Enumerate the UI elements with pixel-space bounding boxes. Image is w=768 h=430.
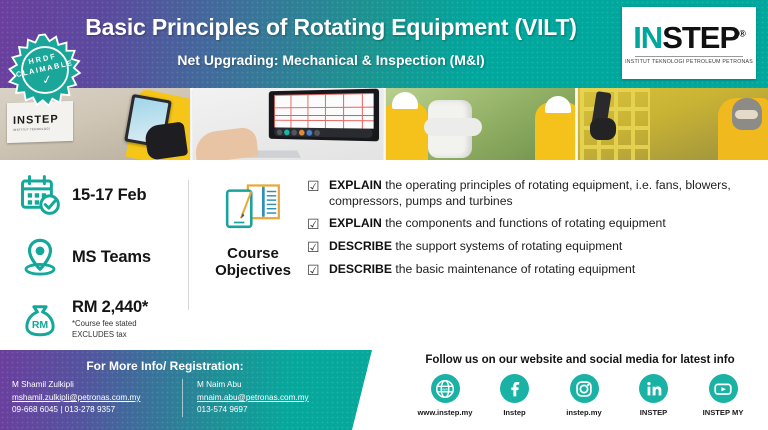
svg-text:www: www <box>441 387 450 391</box>
instep-logo-tagline: INSTITUT TEKNOLOGI PETROLEUM PETRONAS <box>625 59 753 65</box>
objective-text: DESCRIBE the basic maintenance of rotati… <box>329 262 635 278</box>
photo-laptop-schematic <box>193 88 383 160</box>
info-text-date: 15-17 Feb <box>66 186 146 205</box>
objective-lead: DESCRIBE <box>329 262 392 276</box>
registered-mark-icon: ® <box>739 28 745 38</box>
page-subtitle: Net Upgrading: Mechanical & Inspection (… <box>48 52 614 68</box>
globe-www-icon[interactable]: www <box>431 374 460 403</box>
objective-text: EXPLAIN the components and functions of … <box>329 216 666 232</box>
contact-email[interactable]: mshamil.zulkipli@petronas.com.my <box>12 392 182 405</box>
header-banner: Basic Principles of Rotating Equipment (… <box>0 0 768 88</box>
worker-body <box>386 102 428 160</box>
objective-item: ☑ EXPLAIN the components and functions o… <box>307 216 757 232</box>
course-venue: MS Teams <box>72 248 151 267</box>
objective-rest: the support systems of rotating equipmen… <box>392 239 622 253</box>
objective-item: ☑ EXPLAIN the operating principles of ro… <box>307 178 757 209</box>
calendar-check-icon <box>14 174 66 216</box>
info-row-date: 15-17 Feb <box>14 170 184 220</box>
course-fee: RM 2,440* <box>72 298 148 317</box>
objectives-list: ☑ EXPLAIN the operating principles of ro… <box>301 174 757 286</box>
contact-phone: 09-668 6045 | 013-278 9357 <box>12 404 182 417</box>
instep-logo-in: IN <box>633 20 662 55</box>
participant-tile <box>306 129 312 135</box>
contact-columns: M Shamil Zulkipli mshamil.zulkipli@petro… <box>12 379 360 417</box>
objective-text: EXPLAIN the operating principles of rota… <box>329 178 757 209</box>
laptop-screen <box>268 89 378 142</box>
social-link-instagram[interactable]: instep.my <box>553 374 615 417</box>
info-row-venue: MS Teams <box>14 232 184 282</box>
social-link-youtube[interactable]: INSTEP MY <box>692 374 754 417</box>
social-label: instep.my <box>566 408 601 417</box>
objective-item: ☑ DESCRIBE the support systems of rotati… <box>307 239 757 255</box>
hrdf-badge-text: HRDF CLAIMABLE ✓ <box>1 26 89 114</box>
footer: For More Info/ Registration: M Shamil Zu… <box>0 350 768 430</box>
youtube-icon[interactable] <box>709 374 738 403</box>
checkbox-icon: ☑ <box>307 178 329 194</box>
course-flyer: Basic Principles of Rotating Equipment (… <box>0 0 768 430</box>
checkbox-icon: ☑ <box>307 216 329 232</box>
glove <box>590 118 616 140</box>
course-info-list: 15-17 Feb MS Teams <box>14 170 184 356</box>
svg-text:RM: RM <box>32 319 49 331</box>
social-link-linkedin[interactable]: INSTEP <box>623 374 685 417</box>
info-text-fee: RM 2,440* *Course fee stated EXCLUDES ta… <box>66 298 148 340</box>
course-fee-note: *Course fee stated EXCLUDES tax <box>72 319 148 340</box>
tablet-book-pencil-icon <box>222 180 284 239</box>
instep-logo-wordmark: INSTEP® <box>633 22 745 53</box>
objective-lead: DESCRIBE <box>329 239 392 253</box>
typing-hand <box>193 126 258 160</box>
social-title: Follow us on our website and social medi… <box>392 354 768 366</box>
photo-field-workers <box>386 88 576 160</box>
objective-item: ☑ DESCRIBE the basic maintenance of rota… <box>307 262 757 278</box>
sign-text: INSTEP <box>13 113 59 127</box>
participant-tile <box>291 129 297 135</box>
participant-tile <box>276 129 281 135</box>
linkedin-icon[interactable] <box>639 374 668 403</box>
contact-person-1: M Shamil Zulkipli mshamil.zulkipli@petro… <box>12 379 182 417</box>
objective-rest: the operating principles of rotating equ… <box>329 178 731 208</box>
facebook-icon[interactable] <box>500 374 529 403</box>
instagram-icon[interactable] <box>570 374 599 403</box>
hrdf-claimable-badge: HRDF CLAIMABLE ✓ <box>8 33 82 107</box>
info-row-fee: RM RM 2,440* *Course fee stated EXCLUDES… <box>14 294 184 344</box>
social-link-website[interactable]: www www.instep.my <box>414 374 476 417</box>
contact-name: M Naim Abu <box>197 379 352 392</box>
social-icon-row: www www.instep.my Instep <box>414 374 754 417</box>
contact-email[interactable]: mnaim.abu@petronas.com.my <box>197 392 352 405</box>
participant-tile <box>298 129 304 135</box>
photo-plant-inspection <box>578 88 768 160</box>
contact-name: M Shamil Zulkipli <box>12 379 182 392</box>
safety-helmet <box>392 92 418 109</box>
participant-tile <box>314 129 320 135</box>
info-text-venue: MS Teams <box>66 248 151 267</box>
safety-helmet <box>545 96 571 113</box>
social-label: INSTEP <box>640 408 667 417</box>
social-link-facebook[interactable]: Instep <box>484 374 546 417</box>
social-label: INSTEP MY <box>703 408 744 417</box>
objective-lead: EXPLAIN <box>329 216 382 230</box>
objectives-label: Course Objectives <box>215 245 291 280</box>
contact-heading: For More Info/ Registration: <box>0 359 330 373</box>
checkbox-icon: ☑ <box>307 262 329 278</box>
page-title: Basic Principles of Rotating Equipment (… <box>48 14 614 41</box>
section-divider <box>188 180 189 310</box>
contact-person-2: M Naim Abu mnaim.abu@petronas.com.my 013… <box>182 379 352 417</box>
objective-lead: EXPLAIN <box>329 178 382 192</box>
social-label: Instep <box>503 408 525 417</box>
location-pin-icon <box>14 236 66 278</box>
objective-rest: the components and functions of rotating… <box>382 216 666 230</box>
objective-text: DESCRIBE the support systems of rotating… <box>329 239 622 255</box>
contact-phone: 013-574 9697 <box>197 404 352 417</box>
schematic-diagram <box>274 93 373 129</box>
checkbox-icon: ☑ <box>307 239 329 255</box>
video-call-bar <box>274 127 372 138</box>
money-bag-icon: RM <box>14 298 66 340</box>
check-icon: ✓ <box>41 73 53 87</box>
logo-divider <box>635 56 743 57</box>
social-media-section: Follow us on our website and social medi… <box>392 350 768 430</box>
sign-subtext: INSTITUT TEKNOLOGI <box>13 127 50 132</box>
main-content: 15-17 Feb MS Teams <box>0 160 768 350</box>
instep-logo-step: STEP <box>662 20 739 55</box>
participant-tile <box>284 129 290 135</box>
glove <box>144 121 188 160</box>
contact-panel: For More Info/ Registration: M Shamil Zu… <box>0 350 372 430</box>
course-objectives-section: Course Objectives ☑ EXPLAIN the operatin… <box>205 174 757 286</box>
objective-rest: the basic maintenance of rotating equipm… <box>392 262 635 276</box>
worker-face <box>732 98 762 130</box>
objectives-label-block: Course Objectives <box>205 174 301 280</box>
course-date: 15-17 Feb <box>72 186 146 205</box>
pipe-equipment <box>424 118 482 136</box>
social-label: www.instep.my <box>418 408 473 417</box>
instep-logo: INSTEP® INSTITUT TEKNOLOGI PETROLEUM PET… <box>622 7 756 79</box>
photo-strip: INSTEPINSTITUT TEKNOLOGI <box>0 88 768 160</box>
